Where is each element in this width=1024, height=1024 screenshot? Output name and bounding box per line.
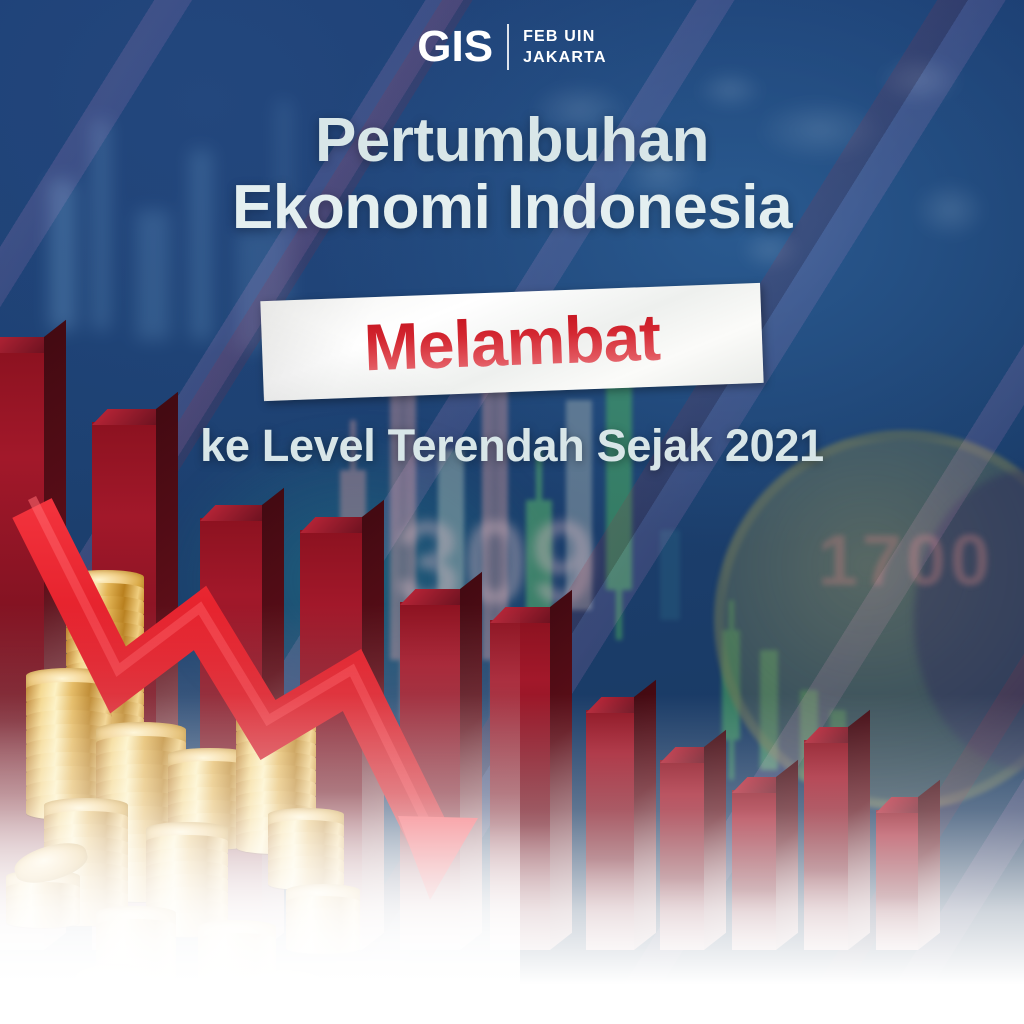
bar-chart-3d-right — [660, 520, 1024, 950]
logo-sub-line2: JAKARTA — [523, 49, 607, 67]
poster-canvas: 1700 309 — [0, 0, 1024, 1024]
highlight-banner-text: Melambat — [363, 304, 662, 381]
brand-logo: GIS FEB UIN JAKARTA — [0, 24, 1024, 70]
page-subtitle: ke Level Terendah Sejak 2021 — [0, 420, 1024, 472]
logo-divider — [507, 24, 509, 70]
logo-subtitle: FEB UIN JAKARTA — [523, 28, 607, 67]
headline-line-2: Ekonomi Indonesia — [0, 175, 1024, 242]
logo-sub-line1: FEB UIN — [523, 28, 607, 46]
logo-gis-text: GIS — [417, 25, 493, 69]
page-title: Pertumbuhan Ekonomi Indonesia — [0, 108, 1024, 242]
highlight-banner: Melambat — [260, 283, 763, 401]
headline-line-1: Pertumbuhan — [0, 108, 1024, 175]
